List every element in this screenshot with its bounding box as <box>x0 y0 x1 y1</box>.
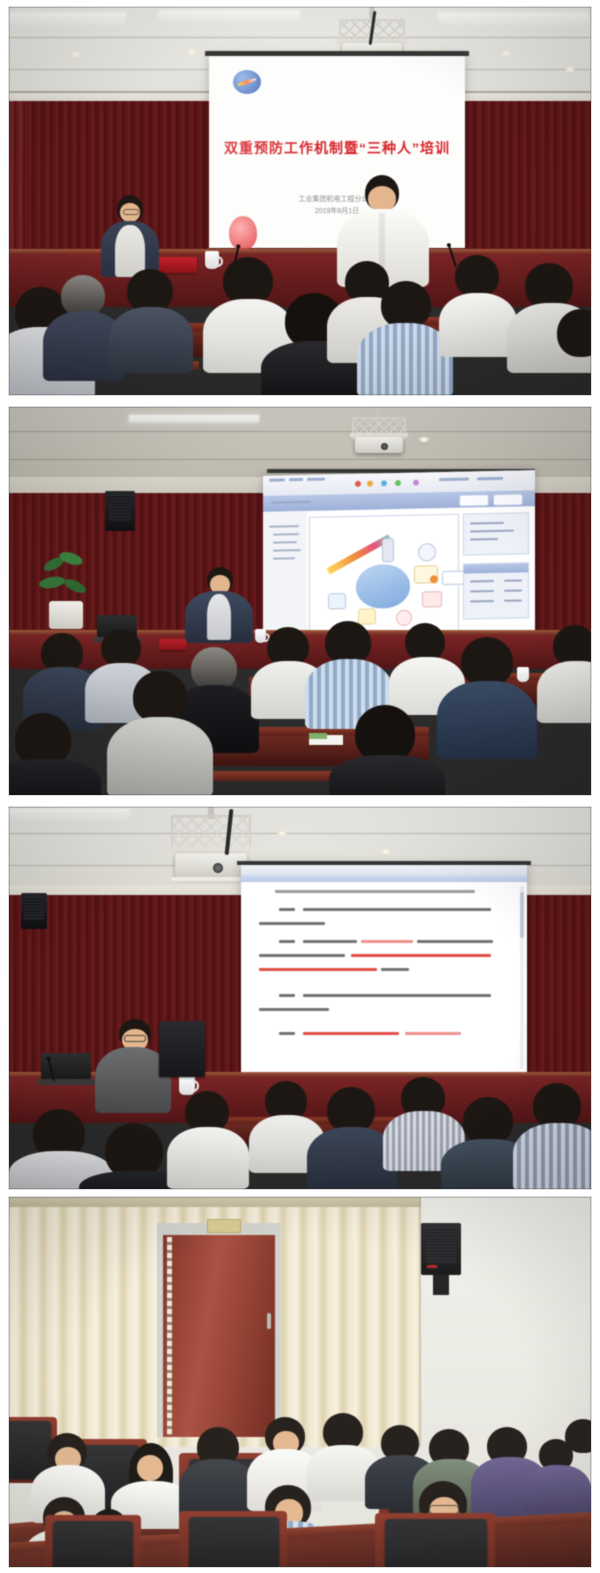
projection-screen <box>263 470 535 650</box>
ceiling-grid-line <box>9 833 591 834</box>
doc-text: 5. 运用配电线路事故抢修单的工作。 <box>271 883 513 891</box>
ceiling-projector <box>339 407 419 461</box>
photo-1-scene: 双重预防工作机制暨“三种人”培训 工业集团机电工程分公司 2019年8月1日 <box>9 7 591 395</box>
speaker-bracket <box>433 1275 449 1295</box>
booklet <box>309 733 327 739</box>
ceiling-light <box>159 11 299 19</box>
presenter-person <box>185 567 253 641</box>
photo-4-scene <box>9 1197 591 1567</box>
ceiling-light <box>438 13 591 22</box>
wall-loudspeaker <box>105 491 135 531</box>
ceiling-grid-line <box>9 459 591 460</box>
photo-1: 双重预防工作机制暨“三种人”培训 工业集团机电工程分公司 2019年8月1日 <box>8 6 592 396</box>
chair <box>159 1021 205 1077</box>
downlight <box>419 437 429 442</box>
door-handle[interactable] <box>267 1313 271 1329</box>
app-properties-panel[interactable] <box>463 512 529 555</box>
photo-2 <box>8 406 592 796</box>
ceiling <box>9 407 591 477</box>
paper-cup <box>517 667 529 682</box>
curtain-rail <box>9 1197 421 1207</box>
downlight <box>565 67 575 72</box>
company-logo <box>233 70 261 94</box>
glasses <box>123 209 139 215</box>
ceiling-grid-line <box>9 37 591 38</box>
downlight <box>381 849 391 854</box>
ceiling-grid-line <box>9 431 591 432</box>
ceiling-light <box>9 809 131 817</box>
audience-area <box>9 643 591 795</box>
photo-2-scene <box>9 407 591 795</box>
doc-scrollbar[interactable] <box>520 886 524 1069</box>
doc-titlebar[interactable] <box>241 865 527 875</box>
downlight <box>501 51 511 56</box>
wall-loudspeaker <box>21 893 47 929</box>
slide-title: 双重预防工作机制暨“三种人”培训 <box>209 138 465 158</box>
doc-page <box>241 882 527 1073</box>
audience-area <box>9 269 591 395</box>
app-detail-panel[interactable] <box>463 562 529 619</box>
photo-3: 5. 运用配电线路事故抢修单的工作。 <box>8 806 592 1190</box>
glasses <box>124 1035 146 1042</box>
door-sign <box>207 1219 241 1233</box>
downlight <box>71 52 81 57</box>
photo-collage-page: 双重预防工作机制暨“三种人”培训 工业集团机电工程分公司 2019年8月1日 <box>0 0 600 1573</box>
app-canvas[interactable] <box>309 514 459 641</box>
audience-area <box>9 1089 591 1189</box>
potted-plant <box>37 557 91 627</box>
doc-ribbon[interactable] <box>241 875 527 882</box>
projection-screen: 5. 运用配电线路事故抢修单的工作。 <box>241 865 527 1073</box>
tea-mug <box>205 251 219 269</box>
downlight <box>187 49 197 54</box>
photo-4 <box>8 1196 592 1568</box>
downlight <box>277 831 287 836</box>
front-desk <box>9 1527 591 1567</box>
ceiling-light <box>129 415 259 422</box>
ceiling-light <box>9 13 127 22</box>
slide-decoration <box>229 216 257 250</box>
photo-3-scene: 5. 运用配电线路事故抢修单的工作。 <box>9 807 591 1189</box>
speaker-badge <box>427 1265 437 1268</box>
tea-mug <box>255 629 266 643</box>
